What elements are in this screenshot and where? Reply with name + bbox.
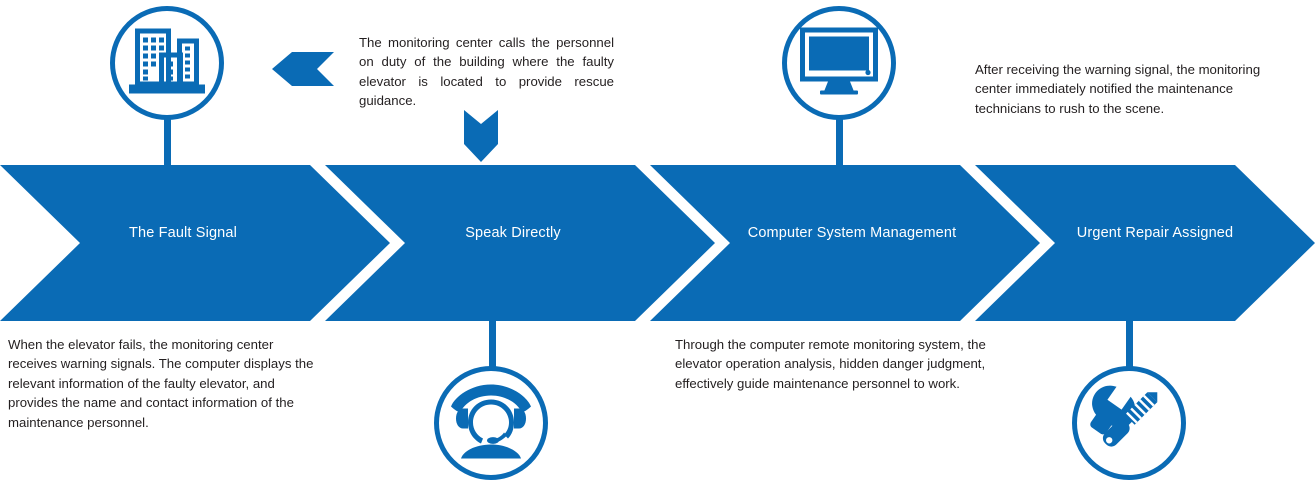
chevron-step-1[interactable] [0, 165, 390, 321]
node-building[interactable] [110, 6, 224, 120]
note-top-right: After receiving the warning signal, the … [975, 60, 1275, 118]
connector-stem-building [164, 118, 171, 170]
node-headset[interactable] [434, 366, 548, 480]
headset-support-icon [449, 383, 533, 464]
wrench-screwdriver-icon [1088, 380, 1170, 467]
node-tools[interactable] [1072, 366, 1186, 480]
infographic-canvas: The Fault Signal Speak Directly Computer… [0, 0, 1315, 486]
connector-stem-tools [1126, 316, 1133, 370]
chevron-down-arrow [464, 110, 498, 167]
chevron-banner-svg [0, 165, 1315, 321]
computer-monitor-icon [798, 26, 880, 101]
note-bottom-left: When the elevator fails, the monitoring … [8, 335, 320, 432]
note-bottom-mid: Through the computer remote monitoring s… [675, 335, 987, 393]
chevron-left-arrow [272, 52, 334, 91]
connector-stem-monitor [836, 118, 843, 170]
note-top-left: The monitoring center calls the personne… [359, 33, 614, 111]
connector-stem-headset [489, 316, 496, 370]
process-banner [0, 165, 1315, 321]
building-icon [127, 25, 207, 102]
node-monitor[interactable] [782, 6, 896, 120]
